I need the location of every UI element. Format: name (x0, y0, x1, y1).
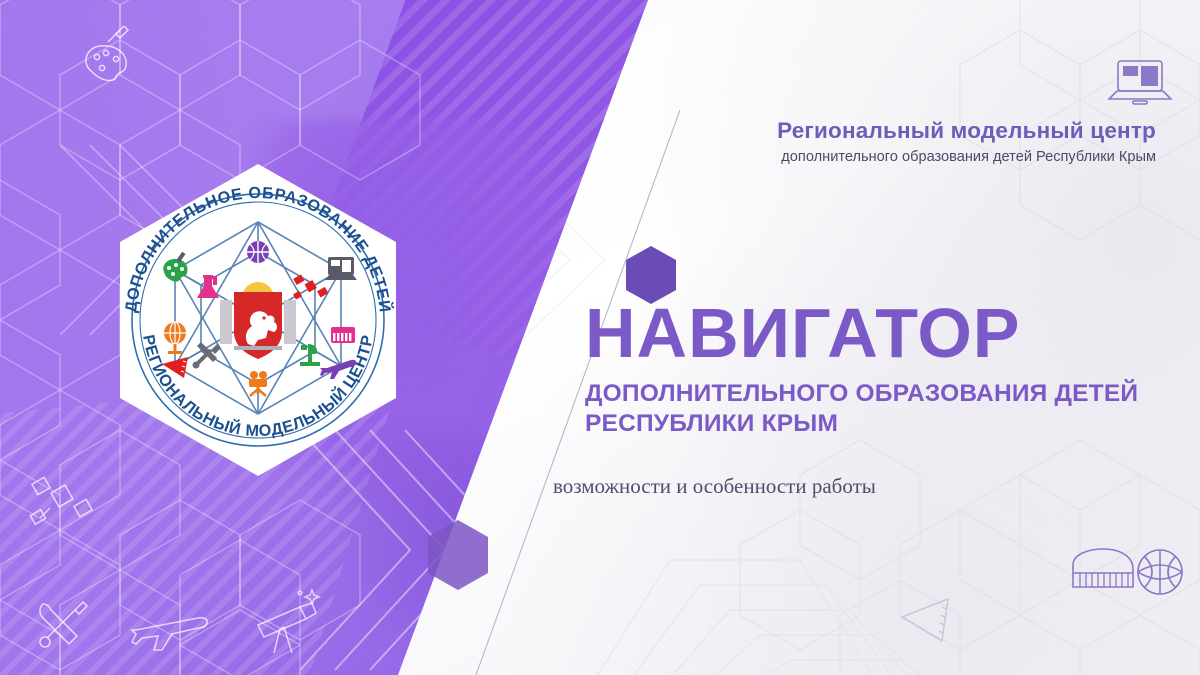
triangle-ruler-icon (890, 585, 970, 665)
presentation-slide: ДОПОЛНИТЕЛЬНОЕ ОБРАЗОВАНИЕ ДЕТЕЙ РЕГИОНА… (0, 0, 1200, 675)
main-subtitle: ДОПОЛНИТЕЛЬНОГО ОБРАЗОВАНИЯ ДЕТЕЙ РЕСПУБ… (585, 379, 1185, 438)
emblem-logo: ДОПОЛНИТЕЛЬНОЕ ОБРАЗОВАНИЕ ДЕТЕЙ РЕГИОНА… (98, 160, 418, 480)
palette-icon (72, 26, 142, 96)
header-block: Региональный модельный центр дополнитель… (596, 118, 1156, 165)
satellite-icon (22, 458, 102, 538)
computer-icon (325, 257, 357, 280)
main-subtitle-line2: РЕСПУБЛИКИ КРЫМ (585, 409, 1185, 438)
header-subtitle: дополнительного образования детей Респуб… (596, 149, 1156, 165)
telescope-icon (240, 585, 330, 665)
airplane-icon (128, 590, 218, 665)
page-title: НАВИГАТОР (585, 300, 1185, 367)
tools-icon (25, 588, 105, 668)
basketball-icon (247, 241, 269, 263)
main-title-block: НАВИГАТОР ДОПОЛНИТЕЛЬНОГО ОБРАЗОВАНИЯ ДЕ… (585, 300, 1185, 438)
header-title: Региональный модельный центр (596, 118, 1156, 144)
tagline: возможности и особенности работы (553, 474, 876, 499)
basketball-icon (1120, 532, 1200, 612)
hexagon-accent-lower (424, 518, 492, 592)
piano-icon (331, 327, 355, 343)
main-subtitle-line1: ДОПОЛНИТЕЛЬНОГО ОБРАЗОВАНИЯ ДЕТЕЙ (585, 379, 1185, 408)
